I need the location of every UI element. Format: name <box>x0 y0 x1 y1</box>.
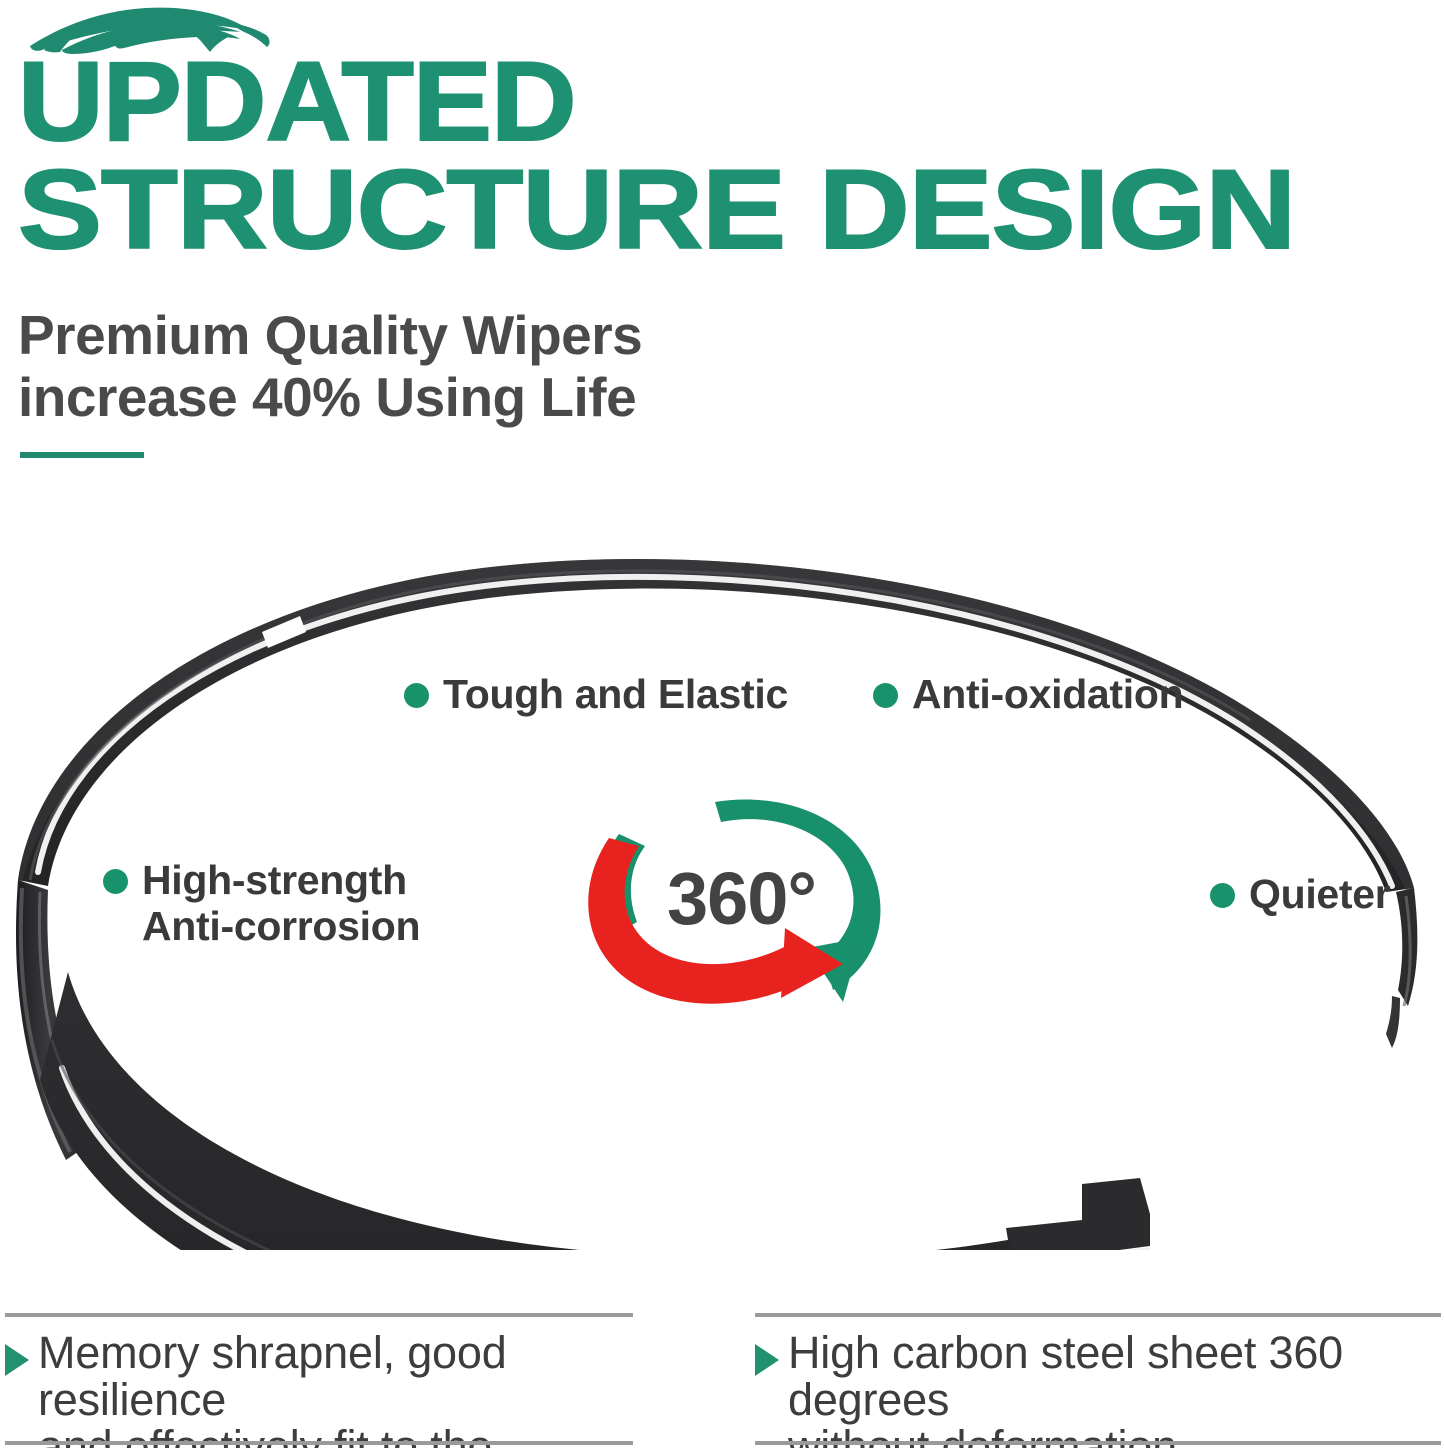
divider-bottom <box>5 1441 633 1445</box>
feature-quieter: Quieter <box>1210 872 1390 918</box>
divider-top <box>5 1313 633 1317</box>
headline-line-2: STRUCTURE DESIGN <box>18 156 1445 264</box>
bullet-row: Memory shrapnel, good resilience and eff… <box>5 1330 633 1448</box>
bottom-bullet-panel-left: Memory shrapnel, good resilience and eff… <box>5 1313 633 1448</box>
feature-label: Anti-oxidation <box>912 672 1183 718</box>
bullet-dot-icon <box>103 869 128 894</box>
product-feature-infographic: UPDATED STRUCTURE DESIGN Premium Quality… <box>0 0 1445 1448</box>
bullet-text: Memory shrapnel, good resilience and eff… <box>38 1330 633 1448</box>
bullet-row: High carbon steel sheet 360 degrees with… <box>755 1330 1441 1448</box>
accent-underline-bar <box>20 452 144 458</box>
bottom-bullet-panel-right: High carbon steel sheet 360 degrees with… <box>755 1313 1441 1448</box>
headline-line-1: UPDATED <box>18 48 1445 156</box>
triangle-right-icon <box>755 1344 779 1376</box>
triangle-right-icon <box>5 1344 29 1376</box>
feature-anti-oxidation: Anti-oxidation <box>873 672 1183 718</box>
bullet-dot-icon <box>873 683 898 708</box>
page-title: UPDATED STRUCTURE DESIGN <box>18 48 1438 263</box>
page-subtitle: Premium Quality Wipers increase 40% Usin… <box>18 305 918 428</box>
bullet-text: High carbon steel sheet 360 degrees with… <box>788 1330 1441 1448</box>
feature-label: High-strength Anti-corrosion <box>142 858 420 950</box>
feature-label: Tough and Elastic <box>443 672 788 718</box>
bullet-dot-icon <box>404 683 429 708</box>
feature-high-strength-anti-corrosion: High-strength Anti-corrosion <box>103 858 420 950</box>
divider-top <box>755 1313 1441 1317</box>
bullet-dot-icon <box>1210 883 1235 908</box>
360-degree-badge: 360° <box>575 788 920 1013</box>
divider-bottom <box>755 1441 1441 1445</box>
feature-tough-and-elastic: Tough and Elastic <box>404 672 788 718</box>
subtitle-line-2: increase 40% Using Life <box>18 367 918 429</box>
feature-label: Quieter <box>1249 872 1390 918</box>
subtitle-line-1: Premium Quality Wipers <box>18 305 918 367</box>
